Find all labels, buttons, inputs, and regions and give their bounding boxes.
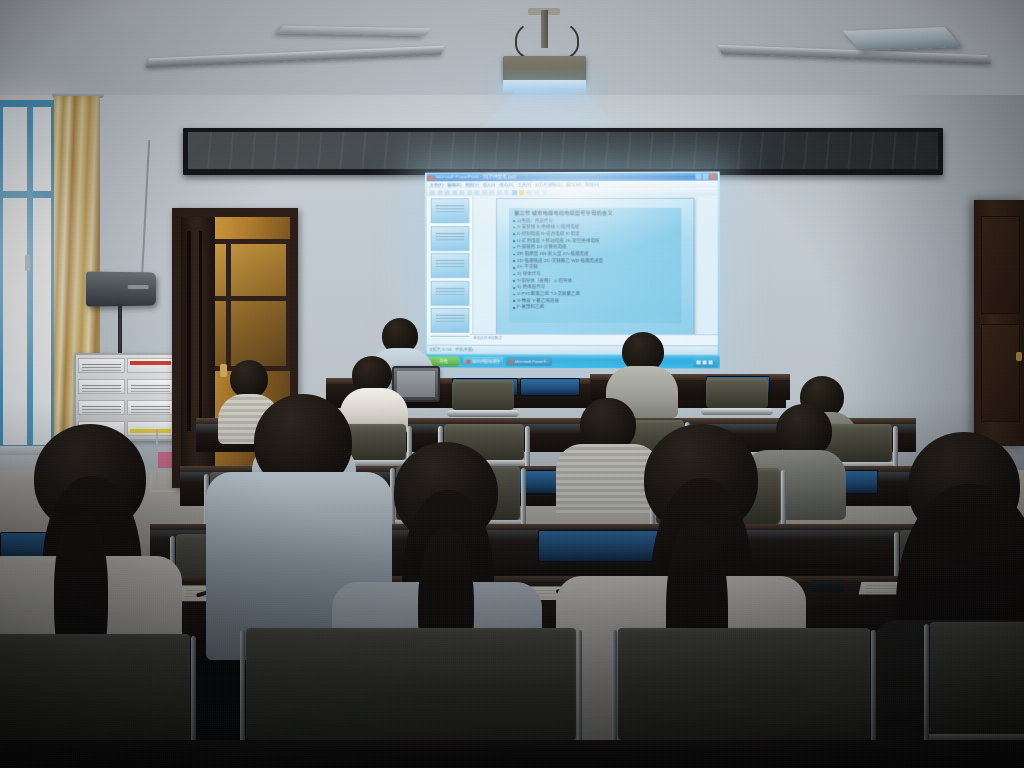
rack-shelf — [78, 400, 174, 415]
menu-item-help[interactable]: 帮助(H) — [585, 181, 599, 187]
ime-icon[interactable] — [709, 360, 713, 364]
system-tray[interactable] — [693, 357, 717, 367]
menu-item-format[interactable]: 格式(O) — [499, 182, 513, 188]
slide-editing-stage[interactable]: 第三节 城市电缆电线电缆型号字母的含义 1)用途、用途代号 A-安装线 B-绝缘… — [473, 196, 717, 338]
minimize-icon[interactable] — [695, 174, 701, 180]
copy-icon[interactable] — [482, 190, 487, 195]
powerpoint-icon — [509, 359, 513, 363]
door-slat — [199, 231, 202, 431]
spellcheck-icon[interactable] — [467, 190, 472, 195]
chair-back — [930, 622, 1024, 734]
door-glass-panel — [205, 239, 290, 371]
blackboard — [183, 128, 943, 175]
save-icon[interactable] — [445, 190, 450, 195]
chair-back — [246, 628, 576, 740]
chair-foreground-right[interactable] — [618, 628, 870, 740]
menu-item-slideshow[interactable]: 幻灯片放映(D) — [535, 182, 562, 188]
desk-monitor — [520, 378, 580, 396]
chair-foreground-far-right[interactable] — [930, 622, 1024, 734]
fluorescent-light-right-rear — [843, 27, 962, 51]
powerpoint-workspace: 第三节 城市电缆电线电缆型号字母的含义 1)用途、用途代号 A-安装线 B-绝缘… — [427, 196, 718, 338]
desk-front-edge — [0, 740, 1024, 768]
slide-thumbnail[interactable] — [430, 308, 469, 333]
window — [0, 100, 58, 452]
slide-bullet: 2A-不交联 — [512, 264, 678, 271]
current-slide[interactable]: 第三节 城市电缆电线电缆型号字母的含义 1)用途、用途代号 A-安装线 B-绝缘… — [496, 197, 694, 336]
chair-back — [452, 380, 514, 410]
powerpoint-logo-icon — [429, 175, 434, 180]
chair-foreground-center[interactable] — [246, 628, 576, 740]
slide-title: 第三节 城市电缆电线电缆型号字母的含义 — [514, 209, 678, 216]
slide-bullet: F-氟塑料乙烯 — [512, 304, 678, 311]
insert-chart-icon[interactable] — [512, 190, 517, 195]
taskbar-button-courseware[interactable]: 城市供配电课件 — [463, 357, 503, 366]
redo-icon[interactable] — [504, 190, 509, 195]
print-icon[interactable] — [452, 190, 457, 195]
restore-icon[interactable] — [703, 174, 709, 180]
new-icon[interactable] — [430, 190, 435, 195]
pamphlet — [127, 379, 174, 394]
window-latch-icon[interactable] — [25, 255, 30, 271]
classroom-photo: Microsoft PowerPoint - [城市供配电.ppt] 文件(F)… — [0, 0, 1024, 768]
pamphlet — [127, 358, 174, 373]
menu-item-tools[interactable]: 工具(T) — [518, 182, 532, 188]
window-controls[interactable] — [695, 174, 715, 180]
taskbar-button-powerpoint[interactable]: Microsoft PowerP... — [506, 357, 552, 366]
chair-back — [0, 634, 190, 744]
taskbar-button-label: 城市供配电课件 — [472, 358, 500, 364]
preview-icon[interactable] — [459, 190, 464, 195]
taskbar-button-label: Microsoft PowerP... — [515, 359, 549, 364]
projector — [503, 56, 586, 82]
volume-icon[interactable] — [696, 360, 700, 364]
cut-icon[interactable] — [474, 190, 479, 195]
pamphlet — [78, 379, 125, 394]
slide-content-box: 第三节 城市电缆电线电缆型号字母的含义 1)用途、用途代号 A-安装线 B-绝缘… — [509, 207, 681, 322]
slide-thumbnail[interactable] — [430, 226, 469, 251]
slide-thumbnail[interactable] — [430, 253, 469, 278]
rack-shelf — [78, 379, 174, 394]
menu-item-window[interactable]: 窗口(W) — [566, 181, 581, 187]
highlight-icon[interactable] — [519, 190, 524, 195]
speaker-badge — [128, 285, 149, 289]
door-panel-upper — [981, 216, 1020, 314]
projector-lens — [503, 80, 586, 92]
close-icon[interactable] — [710, 174, 716, 180]
language-indicator: 中文(中国) — [455, 347, 473, 352]
help-icon[interactable] — [542, 190, 547, 195]
menu-item-view[interactable]: 视图(V) — [465, 182, 479, 188]
paste-icon[interactable] — [489, 190, 494, 195]
undo-icon[interactable] — [497, 190, 502, 195]
window-mullion-vertical — [27, 107, 33, 445]
powerpoint-title-text: Microsoft PowerPoint - [城市供配电.ppt] — [436, 174, 516, 180]
folder-icon — [466, 359, 470, 363]
door-knob-icon[interactable] — [1016, 352, 1022, 361]
slide-thumbnail-pane[interactable] — [427, 196, 474, 337]
door-right[interactable] — [974, 200, 1024, 446]
slide-thumbnail[interactable] — [430, 280, 469, 305]
blackboard-surface — [188, 132, 938, 169]
open-icon[interactable] — [437, 190, 442, 195]
chair-back — [618, 628, 870, 740]
pamphlet — [78, 358, 125, 373]
menu-item-insert[interactable]: 插入(I) — [483, 182, 495, 188]
menu-item-file[interactable]: 文件(F) — [430, 182, 444, 188]
network-icon[interactable] — [703, 360, 707, 364]
slide-thumbnail[interactable] — [430, 198, 469, 223]
mobile-phone[interactable] — [812, 580, 844, 592]
door-panel-lower — [981, 324, 1020, 422]
chair-rail — [447, 410, 519, 417]
zoom-icon[interactable] — [534, 190, 539, 195]
slide-bullet-list: 1)用途、用途代号 A-安装线 B-绝缘线 C-船用电缆 K-控制电缆 N-农用… — [512, 217, 678, 311]
wall-speaker — [86, 271, 156, 306]
powerpoint-window[interactable]: Microsoft PowerPoint - [城市供配电.ppt] 文件(F)… — [427, 173, 718, 355]
chair-foreground-left[interactable] — [0, 634, 190, 744]
door-slat — [187, 231, 191, 431]
menu-item-edit[interactable]: 编辑(E) — [447, 182, 461, 188]
student-head — [230, 360, 268, 398]
pamphlet — [78, 400, 125, 415]
pamphlet — [127, 400, 174, 415]
rack-shelf — [78, 358, 174, 373]
chair-post — [924, 624, 929, 756]
chair[interactable] — [452, 380, 514, 410]
slide-thumbnail[interactable] — [430, 335, 469, 337]
table-icon[interactable] — [527, 190, 532, 195]
